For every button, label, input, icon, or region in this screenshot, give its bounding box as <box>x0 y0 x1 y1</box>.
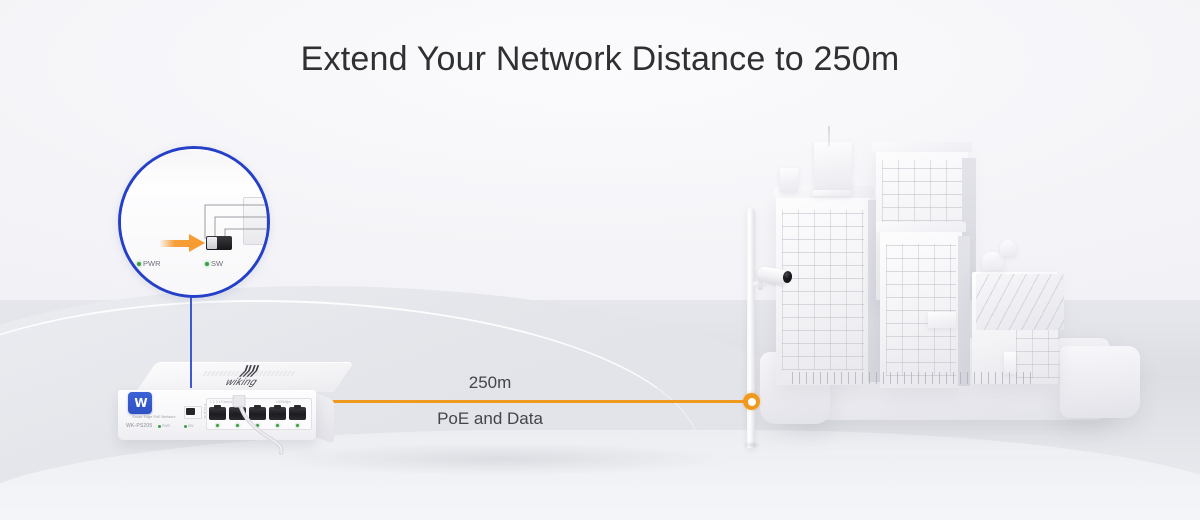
pwr-indicator-dot <box>137 262 141 266</box>
camera-pole <box>747 208 755 448</box>
callout-leader-line <box>190 292 192 388</box>
page-title: Extend Your Network Distance to 250m <box>0 40 1200 79</box>
sw-led-dot <box>184 425 187 428</box>
patch-cable <box>225 395 295 457</box>
building-center-front-side <box>958 236 970 386</box>
glass-roof <box>976 274 1064 330</box>
pwr-led-label: PWR <box>162 424 170 428</box>
link-endpoint-pole <box>743 393 760 410</box>
magnified-led-sw: SW <box>205 259 223 268</box>
magnified-led-row: PWR SW <box>129 259 269 273</box>
front-led-sw: SW <box>184 424 193 428</box>
sw-led-label: SW <box>188 424 193 428</box>
facade-sign-panel <box>928 312 956 328</box>
model-label: WK-PS205 <box>126 423 152 429</box>
link-payload-label: PoE and Data <box>380 409 600 429</box>
roof-rail <box>812 190 852 196</box>
port-led-1 <box>216 424 219 427</box>
illustration-scene: 250m PoE and Data ⟫⟫ wiking W Smart Edge… <box>0 0 1200 520</box>
podium-right-wing <box>1060 346 1140 418</box>
building-center-front-windows <box>886 244 956 376</box>
logo-subtitle: Smart Edge PoE Network <box>124 415 184 419</box>
link-distance-label: 250m <box>380 373 600 393</box>
arrow-head <box>189 234 205 252</box>
rj45-port-1[interactable] <box>209 407 226 420</box>
entrance-door <box>1004 352 1016 374</box>
roof-antenna <box>828 126 830 146</box>
magnified-pwr-label: PWR <box>143 259 161 268</box>
building-left-windows <box>782 210 864 370</box>
brand-wordmark: wiking <box>207 377 276 388</box>
building-center-front-roof <box>876 222 966 232</box>
switch-right-face <box>314 392 334 444</box>
rooftop-duct <box>1000 240 1016 256</box>
brand-logo-mark: ⟫⟫ <box>214 366 283 377</box>
roof-box-small <box>780 168 798 192</box>
magnified-led-pwr: PWR <box>137 259 161 268</box>
camera-mount <box>758 281 763 290</box>
roof-penthouse <box>814 142 852 190</box>
front-led-pwr: PWR <box>158 424 170 428</box>
pole-base-shadow <box>740 440 764 450</box>
pwr-led-dot <box>158 425 161 428</box>
sw-indicator-dot <box>205 262 209 266</box>
port-led-5 <box>296 424 299 427</box>
dip-switch-toggle[interactable] <box>186 408 195 415</box>
magnified-sw-label: SW <box>211 259 223 268</box>
site-fence <box>792 372 1032 384</box>
orange-arrow-icon <box>159 235 209 251</box>
arrow-shaft <box>159 240 193 247</box>
brand-badge-icon: W <box>128 392 152 414</box>
building-center-rear-roof <box>872 142 972 152</box>
dip-switch-magnifier: VLAN Default Extend (Port3&4) PWR SW <box>118 146 270 298</box>
building-right-windows <box>1016 330 1060 378</box>
